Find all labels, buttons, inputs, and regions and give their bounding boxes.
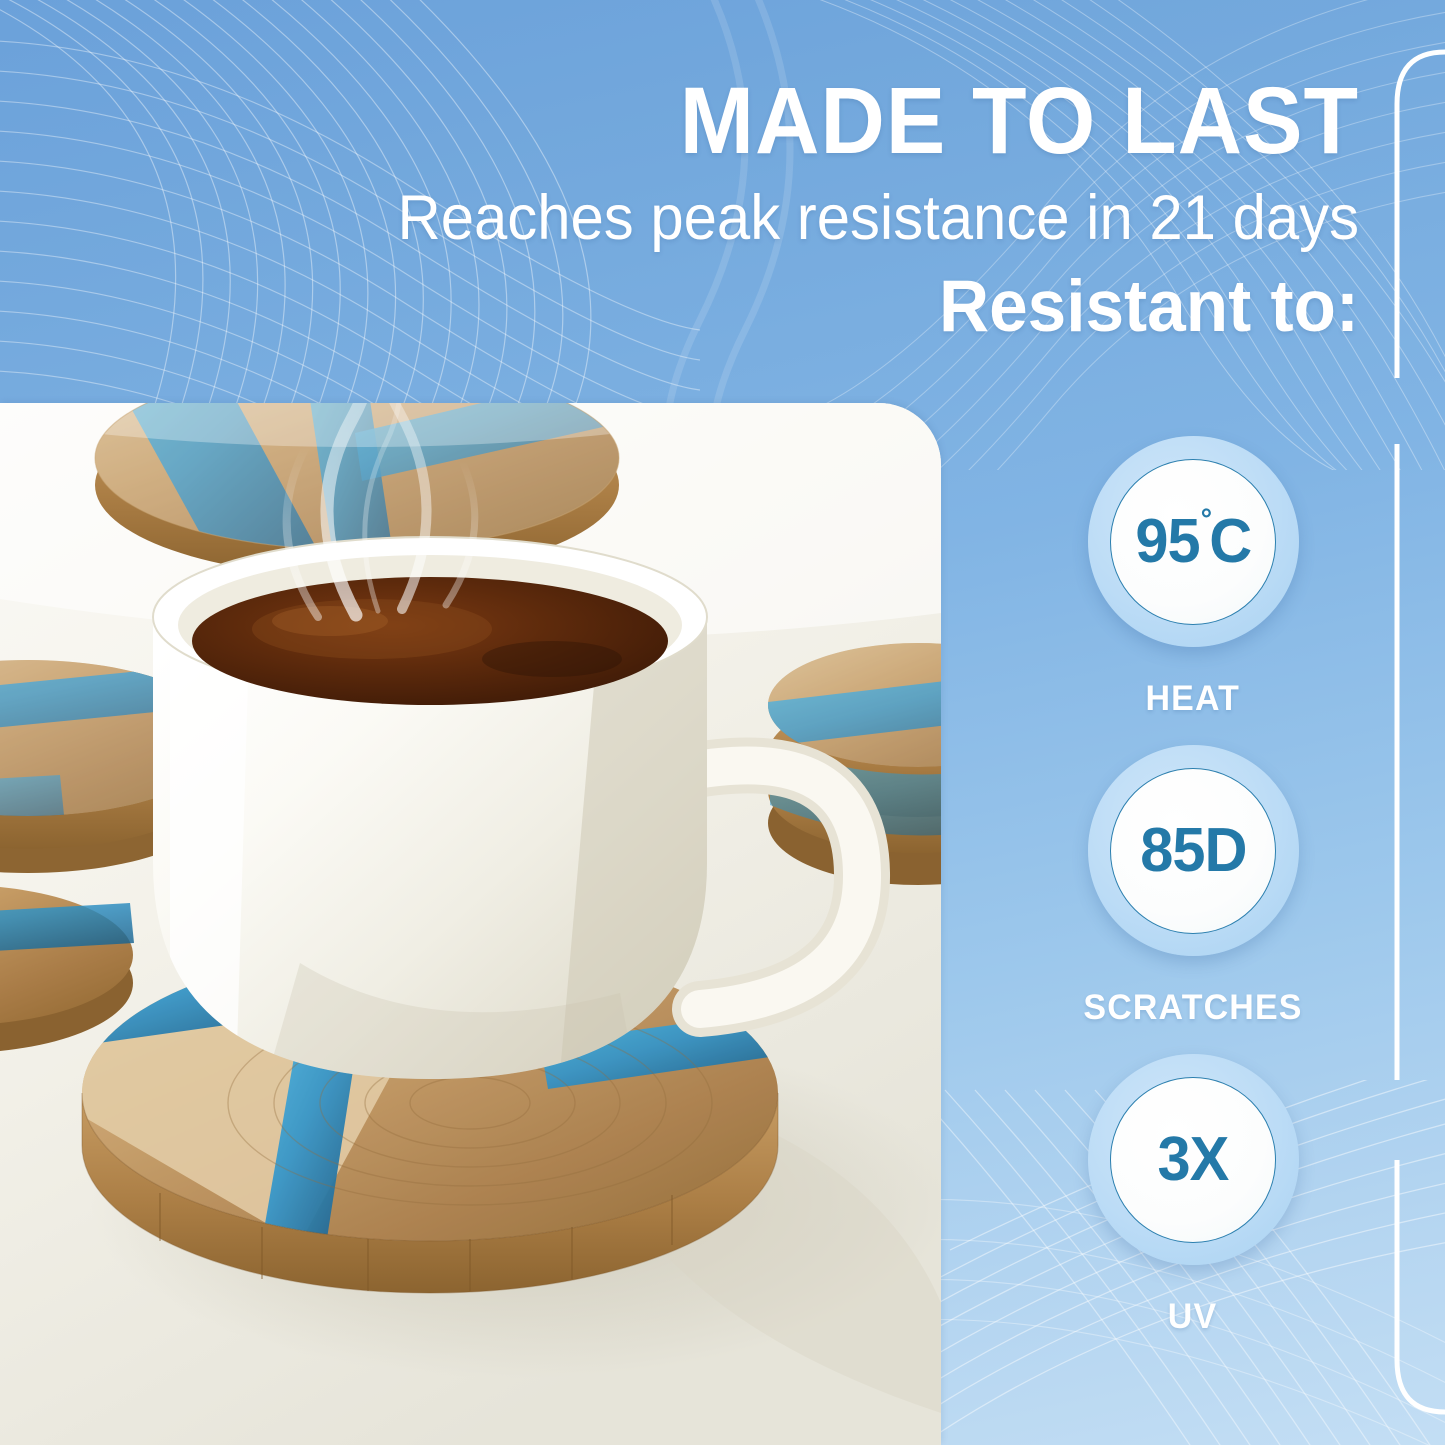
resistance-badge-list: 95 ° C HEAT 85D SCRATCHES bbox=[941, 403, 1445, 1445]
badge-label: HEAT bbox=[1146, 679, 1241, 719]
badge-value: 85D bbox=[1140, 820, 1246, 882]
badge-number: 95 bbox=[1135, 511, 1199, 573]
badge-uv: 3X UV bbox=[1088, 1054, 1299, 1337]
degree-icon: ° bbox=[1200, 505, 1211, 535]
heat-badge-icon: 95 ° C bbox=[1088, 436, 1299, 647]
infographic-canvas: MADE TO LAST Reaches peak resistance in … bbox=[0, 0, 1445, 1445]
badge-unit: C bbox=[1209, 511, 1251, 573]
badge-scratches: 85D SCRATCHES bbox=[1080, 745, 1306, 1028]
badge-value: 3X bbox=[1158, 1129, 1229, 1191]
badge-number: 85D bbox=[1140, 820, 1246, 882]
badge-value: 95 ° C bbox=[1135, 511, 1251, 573]
product-photo bbox=[0, 403, 941, 1445]
headline-block: MADE TO LAST Reaches peak resistance in … bbox=[100, 74, 1359, 348]
badge-disc: 95 ° C bbox=[1110, 459, 1276, 625]
page-title: MADE TO LAST bbox=[176, 74, 1359, 169]
badge-number: 3X bbox=[1158, 1129, 1229, 1191]
section-label-title: Resistant to: bbox=[163, 267, 1359, 347]
badge-heat: 95 ° C HEAT bbox=[1088, 436, 1299, 719]
badge-label: SCRATCHES bbox=[1083, 988, 1302, 1028]
scratch-badge-icon: 85D bbox=[1088, 745, 1299, 956]
page-subtitle: Reaches peak resistance in 21 days bbox=[163, 181, 1359, 255]
badge-disc: 85D bbox=[1110, 768, 1276, 934]
badge-disc: 3X bbox=[1110, 1077, 1276, 1243]
badge-label: UV bbox=[1168, 1297, 1218, 1337]
uv-badge-icon: 3X bbox=[1088, 1054, 1299, 1265]
degree-unit-group: ° C bbox=[1199, 511, 1251, 573]
